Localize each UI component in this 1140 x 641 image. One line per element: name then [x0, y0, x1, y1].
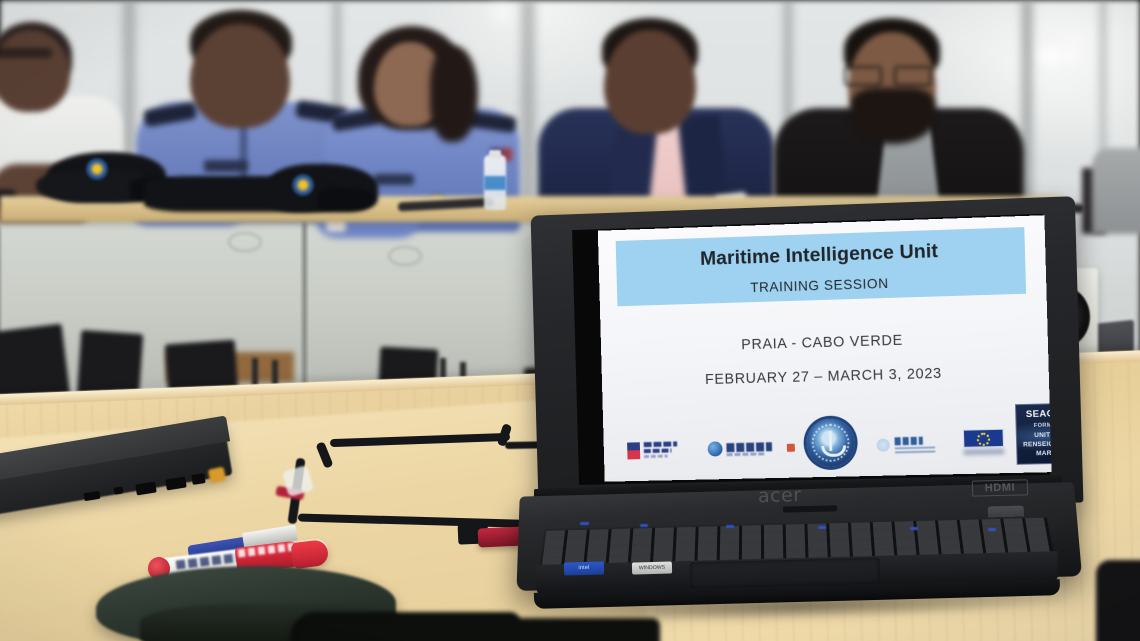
slide-title: Maritime Intelligence Unit [616, 237, 1025, 273]
attendee-partial-right [1092, 148, 1140, 234]
keyboard-indicator [640, 524, 648, 527]
head [604, 30, 696, 134]
keyboard-indicator [910, 527, 918, 530]
slide-location: PRAIA - CABO VERDE [601, 329, 1048, 358]
light-glare [1062, 46, 1080, 63]
slide-logo-row: SEACOP V FORMATION UNITÉS DE RENSEIGNEME… [613, 404, 1044, 476]
laptop-port [191, 473, 205, 485]
keyboard-indicator [580, 522, 589, 525]
panel-grommet [388, 246, 422, 266]
seacop-v-logo: SEACOP V FORMATION UNITÉS DE RENSEIGNEME… [1015, 402, 1052, 464]
windows-sticker: WINDOWS [632, 561, 672, 574]
cap-visor [318, 188, 374, 210]
beard [850, 88, 936, 144]
head [190, 24, 290, 128]
keyboard-indicator [818, 526, 826, 529]
bottle-cap [489, 150, 501, 158]
cap-badge [292, 174, 314, 196]
hdmi-port-label: HDMI [972, 479, 1028, 496]
european-union-flag-logo [963, 429, 1004, 456]
name-badge [204, 160, 248, 172]
navy-crest-logo [806, 418, 855, 467]
seacop-title: SEACOP V [1016, 407, 1051, 420]
intel-sticker-label: intel [564, 561, 604, 575]
fiiapp-logo [708, 439, 778, 459]
windows-sticker-label: WINDOWS [632, 561, 672, 574]
slide-title-banner: Maritime Intelligence Unit TRAINING SESS… [616, 227, 1026, 306]
keyboard-indicator [988, 528, 996, 531]
light-glare [1040, 44, 1064, 66]
dark-foreground-object [1096, 560, 1140, 641]
accent-dot-icon [787, 444, 795, 452]
slide-dates: FEBRUARY 27 – MARCH 3, 2023 [602, 363, 1049, 391]
gifp-logo [876, 435, 939, 455]
light-glare [492, 6, 510, 20]
panel-seam [300, 220, 309, 385]
panel-grommet [228, 232, 262, 252]
seacop-line-1: FORMATION [1017, 422, 1052, 430]
intel-sticker: intel [564, 561, 604, 575]
keyboard-indicator [726, 525, 734, 528]
cap-badge [86, 158, 108, 180]
seacop-line-4: MARITIME [1017, 449, 1051, 458]
expertise-france-logo [627, 440, 678, 461]
laptop-port [114, 486, 124, 494]
open-laptop: Maritime Intelligence Unit TRAINING SESS… [518, 206, 1078, 606]
hair [430, 46, 478, 142]
seacop-line-2: UNITÉS DE [1017, 431, 1052, 440]
slide-subtitle: TRAINING SESSION [617, 272, 1026, 300]
seacop-line-3: RENSEIGNEMENT [1017, 440, 1052, 449]
glasses [842, 66, 934, 82]
name-badge [374, 174, 414, 185]
bottle-label [484, 176, 506, 190]
photograph-scene: Maritime Intelligence Unit TRAINING SESS… [0, 0, 1140, 641]
presentation-slide: Maritime Intelligence Unit TRAINING SESS… [598, 215, 1052, 481]
glasses [0, 48, 52, 58]
